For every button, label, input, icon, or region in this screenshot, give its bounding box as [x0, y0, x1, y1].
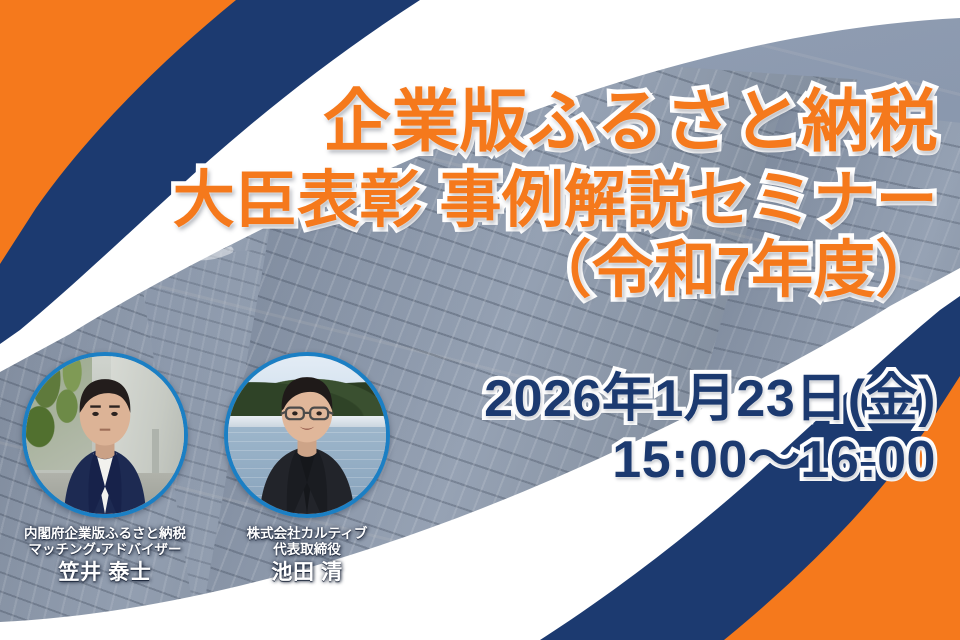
speaker-1-role: マッチング・アドバイザー [12, 542, 198, 558]
speaker-1-avatar [22, 352, 188, 518]
headline-block: 企業版ふるさと納税 大臣表彰 事例解説セミナー （令和7年度） [0, 88, 960, 302]
speaker-2-organization: 株式会社カルティブ [214, 526, 400, 542]
seminar-title-line1: 企業版ふるさと納税 [0, 88, 938, 157]
speaker-card-2: 株式会社カルティブ 代表取締役 池田 清 [214, 352, 400, 586]
speaker-card-1: 内閣府企業版ふるさと納税 マッチング・アドバイザー 笠井 泰士 [12, 352, 198, 586]
speaker-2-figure [228, 356, 386, 514]
speaker-2-role: 代表取締役 [214, 542, 400, 558]
speaker-2-avatar [224, 352, 390, 518]
seminar-title-line2: 大臣表彰 事例解説セミナー [0, 169, 938, 232]
speaker-2-name: 池田 清 [214, 561, 400, 586]
speaker-1-figure [26, 356, 184, 514]
seminar-banner: 企業版ふるさと納税 大臣表彰 事例解説セミナー （令和7年度） 2026年1月2… [0, 0, 960, 640]
seminar-title-line3: （令和7年度） [0, 239, 938, 302]
speaker-1-name: 笠井 泰士 [12, 561, 198, 586]
speakers-block: 内閣府企業版ふるさと納税 マッチング・アドバイザー 笠井 泰士 [12, 352, 400, 586]
speaker-1-organization: 内閣府企業版ふるさと納税 [12, 526, 198, 542]
speaker-1-caption: 内閣府企業版ふるさと納税 マッチング・アドバイザー 笠井 泰士 [12, 526, 198, 586]
speaker-2-caption: 株式会社カルティブ 代表取締役 池田 清 [214, 526, 400, 586]
